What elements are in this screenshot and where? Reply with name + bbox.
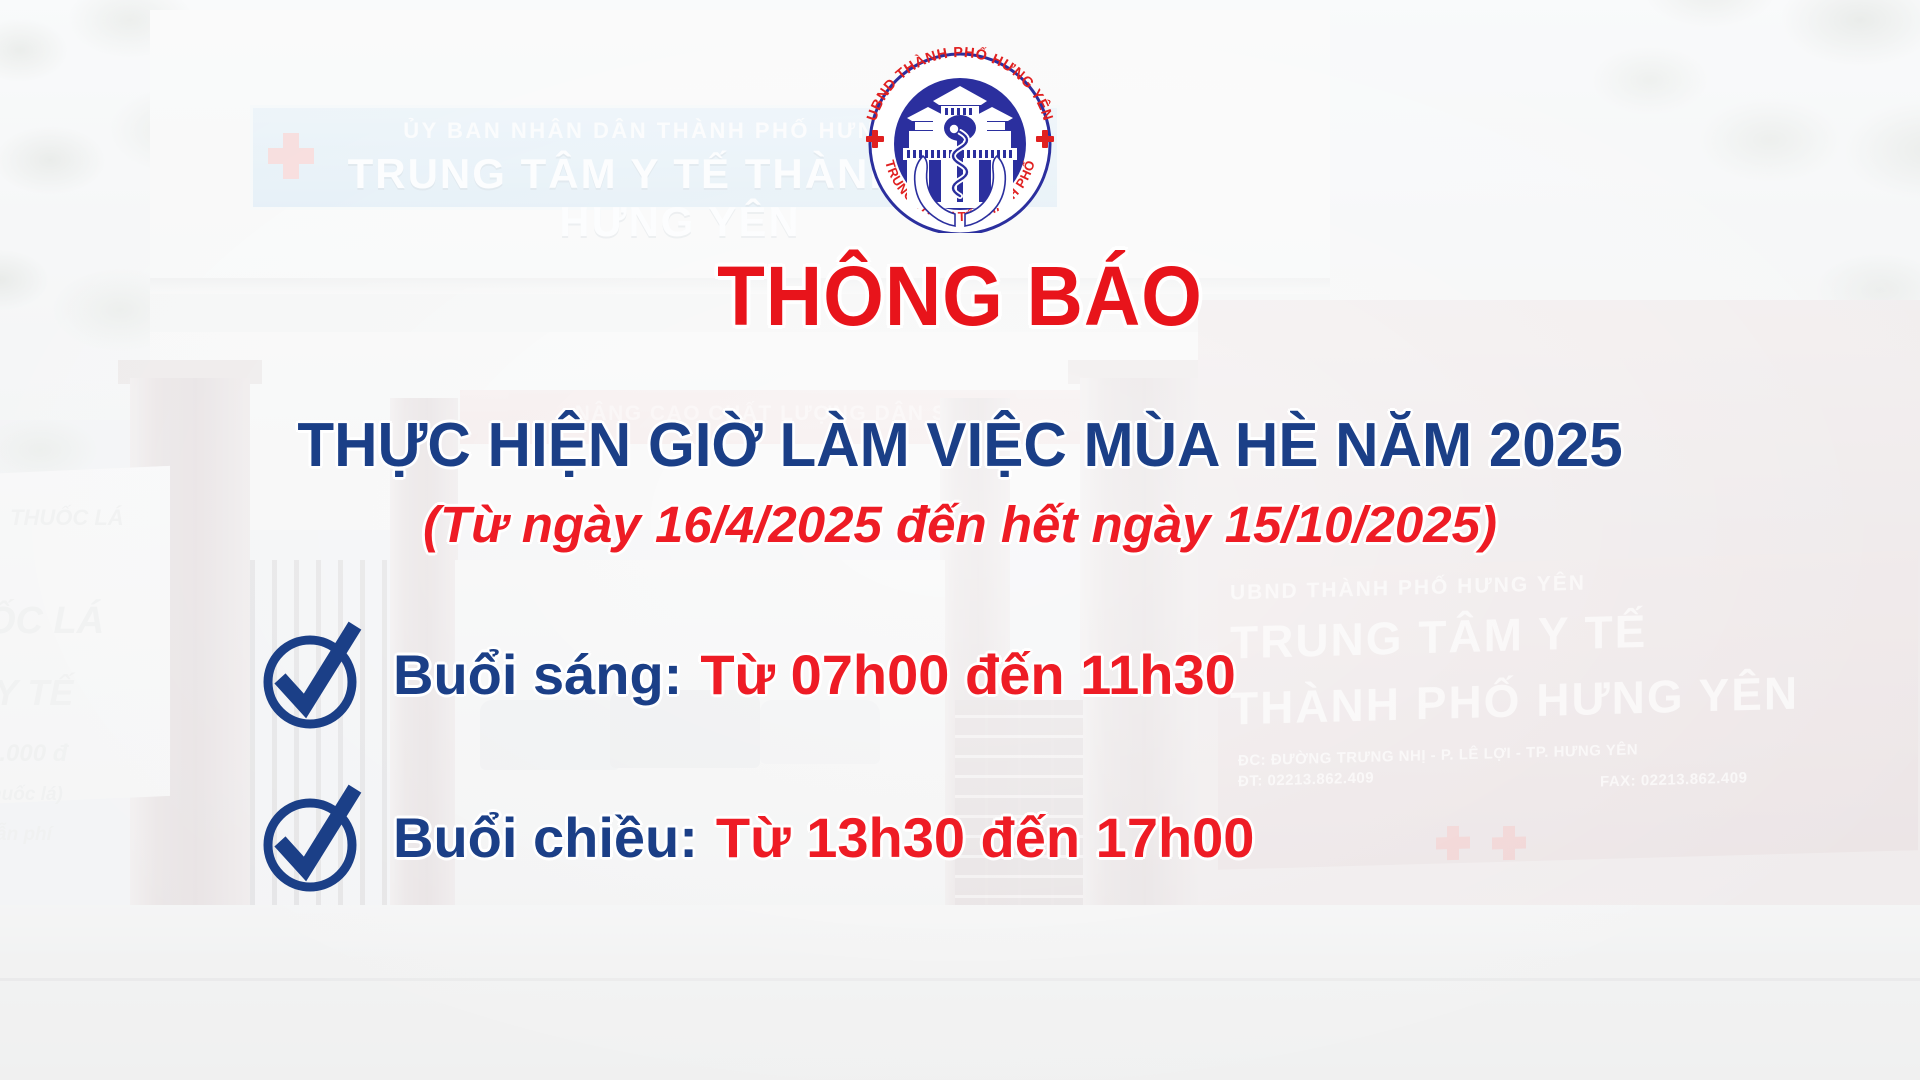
main-subtitle: THỰC HIỆN GIỜ LÀM VIỆC MÙA HÈ NĂM 2025 (29, 410, 1891, 481)
poster-content: UBND THÀNH PHỐ HƯNG YÊN TRUNG TÂM Y TẾ T… (0, 0, 1920, 1080)
schedule-morning-value: Từ 07h00 đến 11h30 (700, 643, 1235, 706)
schedule-row-morning: Buổi sáng:Từ 07h00 đến 11h30 (255, 612, 1675, 737)
schedule-list: Buổi sáng:Từ 07h00 đến 11h30 Buổi chiều:… (255, 612, 1675, 900)
schedule-afternoon-value: Từ 13h30 đến 17h00 (716, 806, 1255, 869)
date-range-text: (Từ ngày 16/4/2025 đến hết ngày 15/10/20… (0, 495, 1920, 554)
schedule-morning-label: Buổi sáng: (393, 643, 682, 706)
page-title: THÔNG BÁO (67, 248, 1853, 345)
schedule-afternoon-text: Buổi chiều:Từ 13h30 đến 17h00 (393, 805, 1254, 870)
check-circle-icon (255, 783, 365, 893)
schedule-morning-text: Buổi sáng:Từ 07h00 đến 11h30 (393, 642, 1236, 707)
announcement-poster: ỦY BAN NHÂN DÂN THÀNH PHỐ HƯNG YÊN TRUNG… (0, 0, 1920, 1080)
schedule-afternoon-label: Buổi chiều: (393, 806, 698, 869)
schedule-row-afternoon: Buổi chiều:Từ 13h30 đến 17h00 (255, 775, 1675, 900)
check-circle-icon (255, 620, 365, 730)
hung-yen-health-center-emblem-icon: UBND THÀNH PHỐ HƯNG YÊN TRUNG TÂM Y TẾ T… (845, 28, 1075, 233)
